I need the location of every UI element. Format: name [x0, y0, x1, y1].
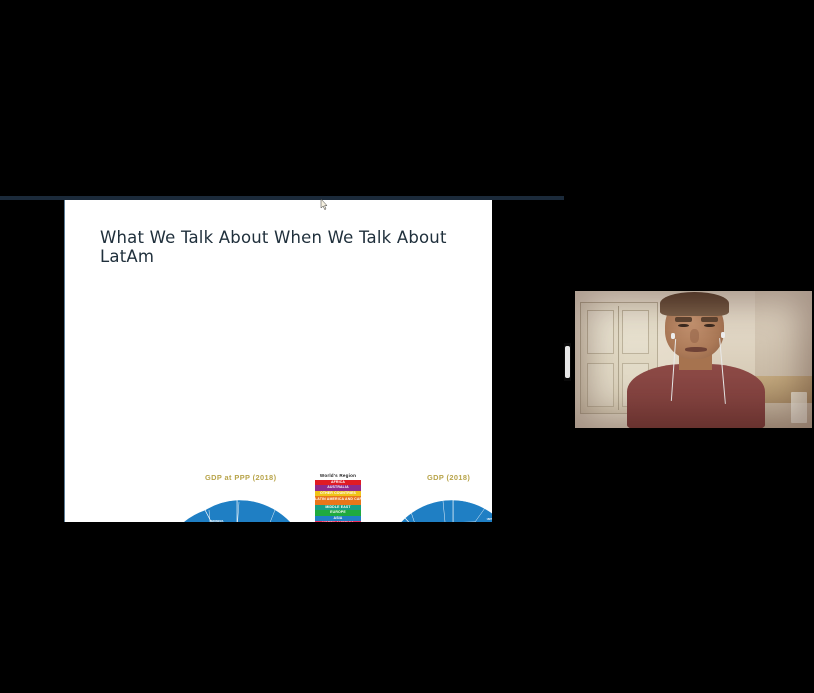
- pie-right-slices: [373, 500, 492, 522]
- svg-text:INDONESIA: INDONESIA: [211, 520, 224, 522]
- webcam-vignette: [575, 291, 812, 428]
- legend-title: World's Region: [314, 473, 362, 478]
- presentation-slide[interactable]: What We Talk About When We Talk About La…: [64, 200, 492, 522]
- pie-left-slices: [157, 500, 309, 522]
- pie-chart-gdp: UNITED STATES $20.49T 23.89% CHINA $13.6…: [365, 496, 492, 522]
- arrow-cursor: [320, 199, 328, 210]
- pie-chart-gdp-ppp: CHINA $25.36T 18.58% INDIA $10.5T 7.69% …: [149, 496, 325, 522]
- svg-text:UNITED: UNITED: [487, 519, 492, 521]
- pie-chart-gdp-ppp-svg: CHINA $25.36T 18.58% INDIA $10.5T 7.69% …: [149, 496, 325, 522]
- webcam-video-tile[interactable]: [573, 289, 813, 430]
- right-chart-header: GDP (2018): [427, 473, 470, 482]
- slide-title: What We Talk About When We Talk About La…: [100, 228, 470, 266]
- pie-chart-gdp-svg: UNITED STATES $20.49T 23.89% CHINA $13.6…: [365, 496, 492, 522]
- screen-share-stage: What We Talk About When We Talk About La…: [0, 196, 564, 525]
- left-chart-header: GDP at PPP (2018): [205, 473, 276, 482]
- share-scrollbar-thumb[interactable]: [565, 346, 570, 378]
- webcam-video-frame: [575, 291, 812, 428]
